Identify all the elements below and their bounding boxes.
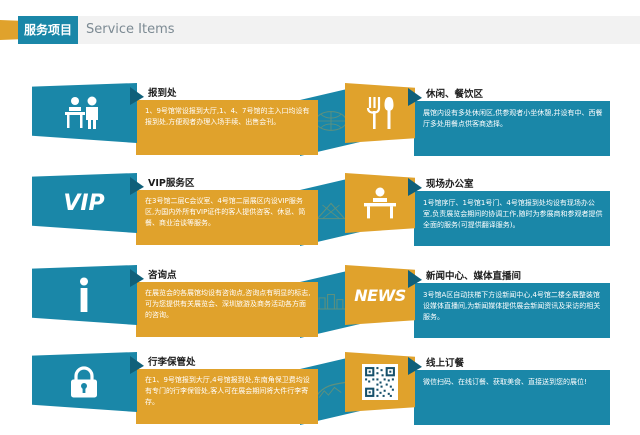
service-title: 行李保管处 — [148, 357, 196, 369]
service-description: 在展览会的各展馆均设有咨询点,咨询点有明显的标志,可为您提供有关展览会、深圳旅游… — [145, 288, 311, 321]
service-row: 行李保管处 在1、9号馆报到大厅,4号馆报到处,东南角保卫费均设有专门的行李保管… — [0, 347, 640, 435]
service-title: 休闲、餐饮区 — [426, 89, 483, 101]
office-desk-icon — [349, 178, 411, 228]
service-description: 1号馆序厅、1号馆1号门、4号馆报到处均设有现场办公室,负责展览会期间的协调工作… — [423, 198, 603, 231]
watermark-graphic — [314, 377, 348, 403]
service-description: 在1、9号馆报到大厅,4号馆报到处,东南角保卫费均设有专门的行李保管处,客人可在… — [145, 375, 311, 408]
service-description: 在3号馆二层C会议室、4号馆二层展区内设VIP服务区,为国内外所有VIP证件的客… — [145, 196, 311, 229]
service-row: VIP VIP服务区 在3号馆二层C会议室、4号馆二层展区内设VIP服务区,为国… — [0, 168, 640, 256]
service-row: 咨询点 在展览会的各展馆均设有咨询点,咨询点有明显的标志,可为您提供有关展览会、… — [0, 260, 640, 348]
service-description: 3号馆A区自动扶梯下方设新闻中心,4号馆二楼全展整装馆设媒体直播间,为新闻媒体提… — [423, 290, 603, 323]
lock-icon — [38, 357, 130, 407]
service-description: 展馆内设有多处休闲区,供参观者小坐休憩,并设有中、西餐厅多处用餐点供客商选择。 — [423, 108, 603, 130]
news-text-icon: NEWS — [349, 270, 411, 320]
reception-desk-icon — [38, 88, 130, 138]
qr-code-icon[interactable] — [349, 357, 411, 407]
service-title: 报到处 — [148, 88, 177, 100]
service-description: 1、9号馆常设报到大厅,1、4、7号馆的主入口均设有报到处,方便观者办理入场手续… — [145, 106, 311, 128]
fork-knife-icon — [349, 88, 411, 138]
vip-label: VIP — [63, 191, 104, 216]
service-row: 报到处 1、9号馆常设报到大厅,1、4、7号馆的主入口均设有报到处,方便观者办理… — [0, 78, 640, 166]
page-header: 服务项目 Service Items — [0, 16, 640, 44]
watermark-graphic — [314, 198, 348, 224]
info-icon — [38, 270, 130, 320]
service-title: 新闻中心、媒体直播间 — [426, 271, 521, 283]
service-title: 现场办公室 — [426, 179, 474, 191]
news-label: NEWS — [354, 286, 406, 305]
service-title: VIP服务区 — [148, 178, 194, 190]
watermark-graphic — [314, 108, 348, 134]
watermark-graphic — [314, 290, 348, 316]
service-title: 线上订餐 — [426, 358, 464, 370]
page-title-en: Service Items — [86, 21, 175, 39]
service-description: 微信扫码、在线订餐、获取美食、直接送到您的展位! — [423, 377, 603, 388]
service-title: 咨询点 — [148, 270, 177, 282]
page-title-cn: 服务项目 — [24, 21, 74, 39]
vip-text-icon: VIP — [38, 178, 130, 228]
